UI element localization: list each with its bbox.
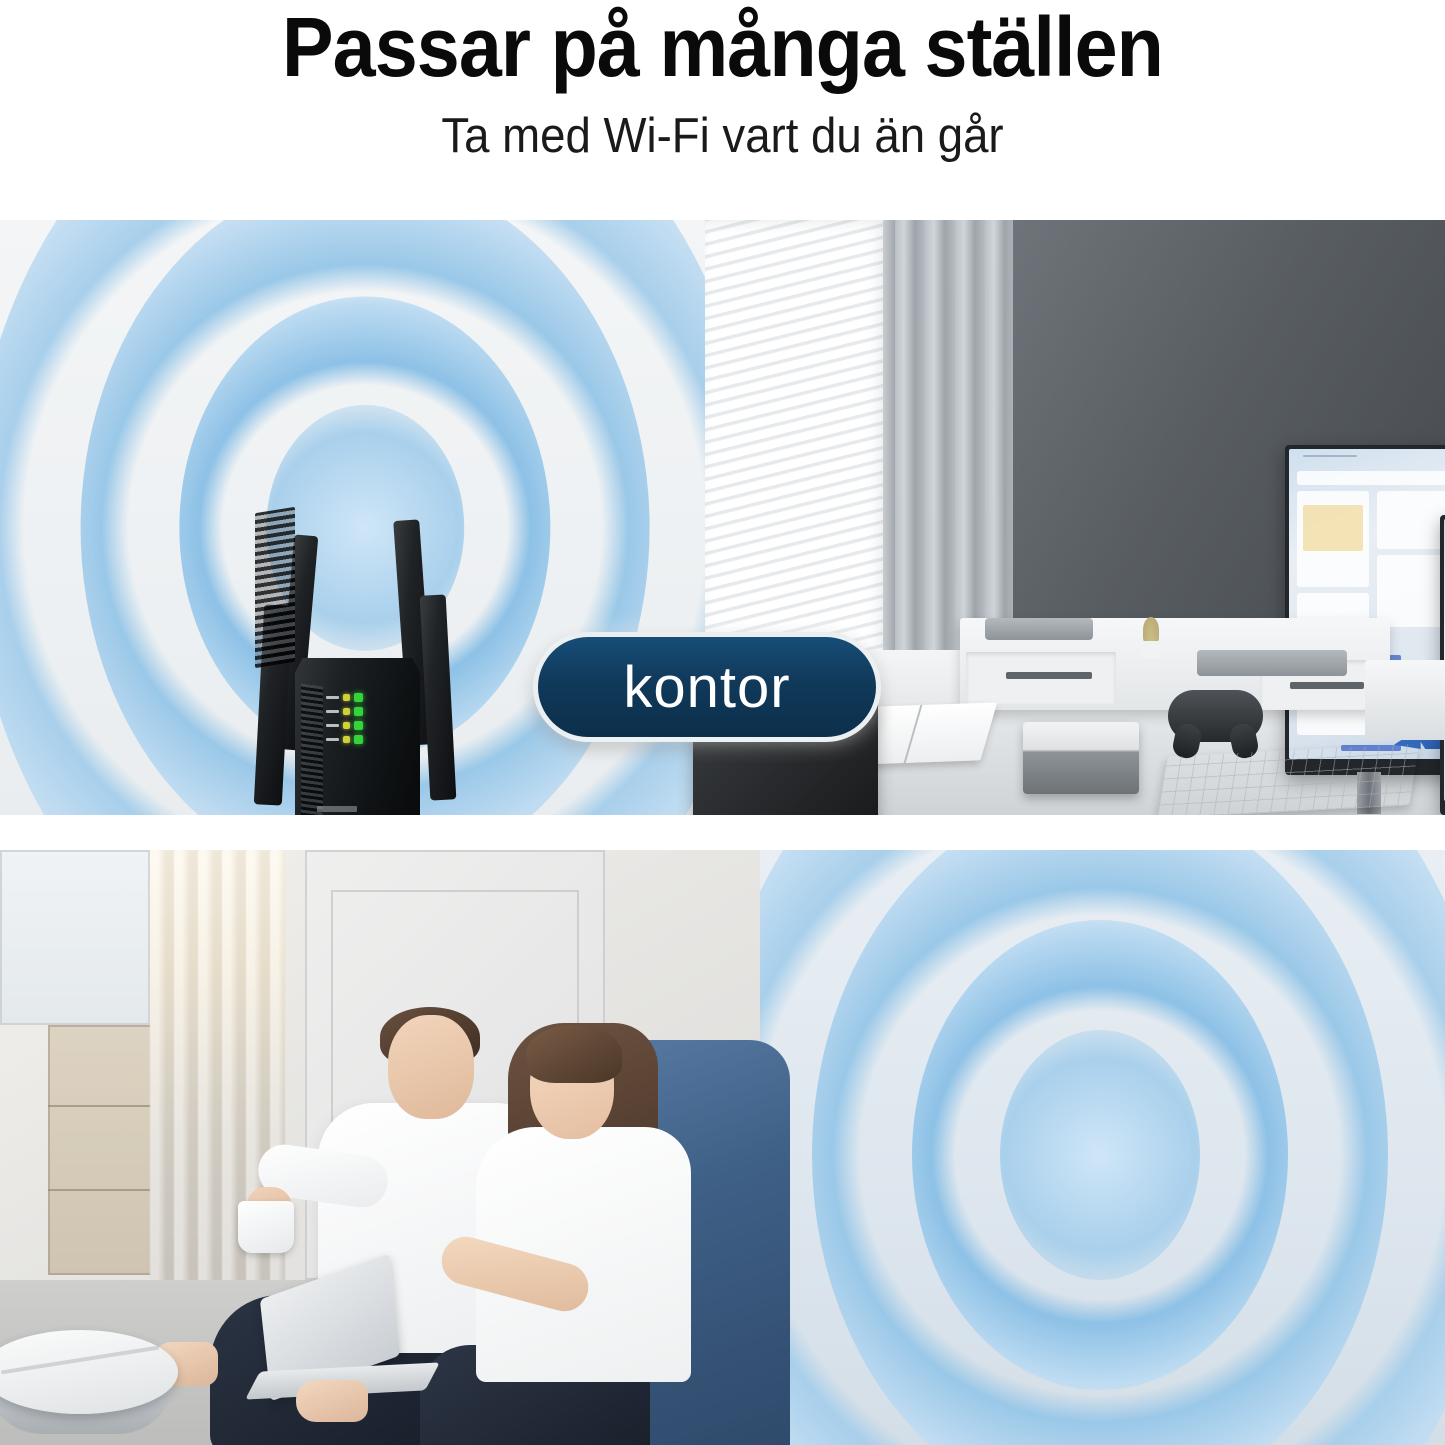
extender-led-panel [326, 694, 370, 742]
led-power-icon [354, 693, 363, 702]
bare-foot-right [296, 1380, 368, 1422]
desk-side-box [1365, 660, 1445, 740]
living-room-window [0, 850, 150, 1025]
person-woman [450, 1035, 710, 1445]
signal-ring-4-icon [1000, 1030, 1200, 1280]
panel-home: hem [0, 850, 1445, 1445]
keyboard[interactable] [1157, 744, 1419, 815]
extender-vent-left [301, 683, 323, 815]
page-title: Passar på många ställen [58, 2, 1387, 93]
panel-office: kontor [0, 220, 1445, 815]
monitor-base-left [985, 618, 1093, 640]
laptop[interactable] [255, 1275, 430, 1395]
header-banner: Passar på många ställen Ta med Wi-Fi var… [0, 0, 1445, 220]
badge-kontor-label: kontor [623, 654, 790, 721]
antenna-4 [420, 594, 457, 800]
monitor-base-right [1197, 650, 1347, 676]
plant-pot [1141, 641, 1161, 658]
robot-vacuum [0, 1330, 178, 1442]
coffee-mug [238, 1201, 294, 1253]
extender-brand-mark [317, 806, 357, 812]
extender-vent-right [255, 507, 295, 668]
desk-plant [1137, 618, 1165, 658]
led-wps-icon [354, 721, 363, 730]
led-lan-icon [354, 735, 363, 744]
game-controller[interactable] [1168, 690, 1263, 742]
page-subtitle: Ta med Wi-Fi vart du än går [51, 108, 1395, 164]
riser-drawer-left[interactable] [966, 652, 1116, 704]
woman-hair-front [526, 1025, 622, 1083]
led-wifi-icon [354, 707, 363, 716]
wifi-extender-office [255, 510, 460, 815]
badge-kontor[interactable]: kontor [533, 632, 881, 742]
wifi-signal-rings-home [700, 850, 1445, 1445]
plant-leaf-icon [1143, 617, 1159, 643]
mini-pc [1023, 722, 1139, 794]
